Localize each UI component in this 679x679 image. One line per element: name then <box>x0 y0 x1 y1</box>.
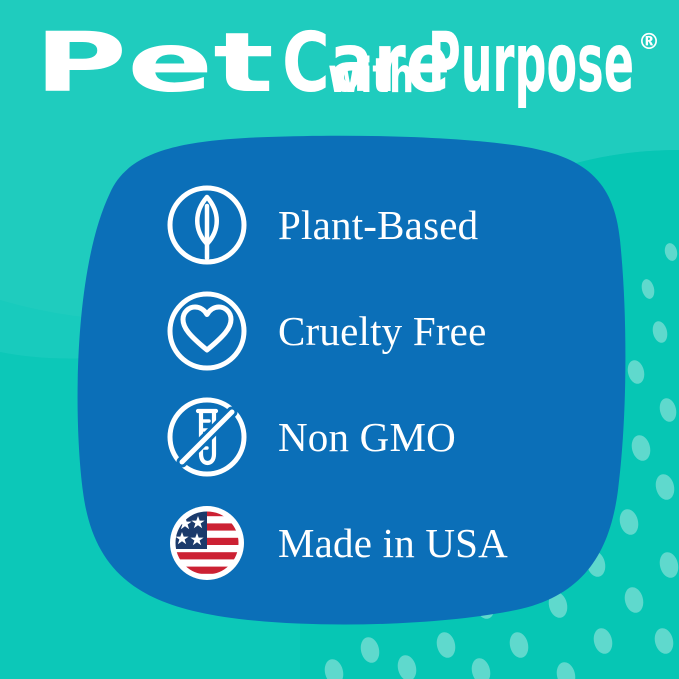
pet-care-with-purpose-graphic: Pet Care with with Purpose ® Plant-Based <box>0 0 679 679</box>
leaf-in-circle-icon <box>164 182 250 268</box>
no-gmo-test-tube-icon <box>164 394 250 480</box>
badge-label-non-gmo: Non GMO <box>278 417 456 458</box>
benefits-panel: Plant-Based Cruelty Free <box>68 140 624 630</box>
heart-in-circle-icon <box>164 288 250 374</box>
badge-label-cruelty-free: Cruelty Free <box>278 311 486 352</box>
badge-row-non-gmo[interactable]: Non GMO <box>68 384 624 490</box>
badge-label-plant-based: Plant-Based <box>278 205 478 246</box>
badge-row-plant-based[interactable]: Plant-Based <box>68 172 624 278</box>
usa-flag-circle-icon <box>164 500 250 586</box>
badge-label-made-in-usa: Made in USA <box>278 523 508 564</box>
badge-row-made-in-usa[interactable]: Made in USA <box>68 490 624 596</box>
badge-row-cruelty-free[interactable]: Cruelty Free <box>68 278 624 384</box>
benefits-list: Plant-Based Cruelty Free <box>68 140 624 630</box>
